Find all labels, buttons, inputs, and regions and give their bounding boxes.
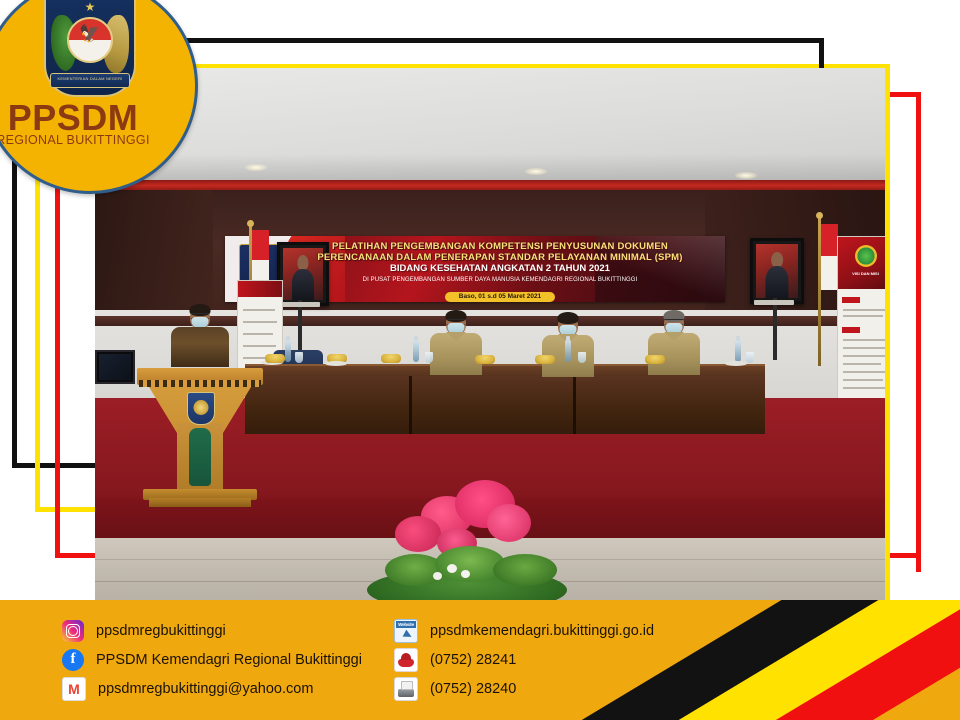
website-icon: Website: [394, 619, 418, 643]
brand-subtitle: REGIONAL BUKITTINGGI: [0, 133, 161, 147]
contact-row-email[interactable]: ppsdmregbukittinggi@yahoo.com: [62, 674, 402, 703]
frame-line-yellow-right: [885, 64, 890, 609]
foliage: [493, 554, 557, 586]
water-bottle: [565, 340, 571, 362]
vice-president-portrait: [750, 238, 804, 304]
banner-line-1: PELATIHAN PENGEMBANGAN KOMPETENSI PENYUS…: [285, 241, 715, 252]
wall-monitor: [95, 350, 135, 384]
instagram-icon: [62, 620, 84, 642]
contact-row-telephone[interactable]: (0752) 28241: [394, 645, 914, 674]
portrait-base-right: [754, 300, 794, 305]
contact-column-left: ppsdmregbukittinggi f PPSDM Kemendagri R…: [62, 616, 402, 703]
banner-line-4: DI PUSAT PENGEMBANGAN SUMBER DAYA MANUSI…: [285, 275, 715, 285]
crest-ribbon: KEMENTERIAN DALAM NEGERI: [50, 73, 130, 88]
telephone-icon: [394, 648, 418, 672]
drinking-glass: [578, 352, 586, 363]
speaker-at-podium: [167, 306, 233, 372]
snack-plate: [535, 355, 555, 364]
ceiling-light: [735, 172, 757, 179]
snack-plate: [645, 355, 665, 364]
contact-row-facebook[interactable]: f PPSDM Kemendagri Regional Bukittinggi: [62, 645, 402, 674]
contact-row-fax[interactable]: (0752) 28240: [394, 674, 914, 703]
rollup-title: VISI DAN MISI: [838, 271, 885, 276]
instagram-handle: ppsdmregbukittinggi: [96, 623, 226, 639]
plate: [725, 361, 747, 366]
flag-finial-left: [247, 220, 254, 227]
podium: [141, 368, 259, 513]
kemendagri-crest-icon: ★ 🦅 KEMENTERIAN DALAM NEGERI: [44, 0, 136, 97]
contact-column-right: Website ppsdmkemendagri.bukittinggi.go.i…: [394, 616, 914, 703]
telephone-number: (0752) 28241: [430, 652, 516, 668]
poster-canvas: PELATIHAN PENGEMBANGAN KOMPETENSI PENYUS…: [0, 0, 960, 720]
ceiling-light: [525, 168, 547, 175]
portrait-stand-right: [773, 298, 777, 360]
fax-number: (0752) 28240: [430, 681, 516, 697]
rollup-tag-misi: [842, 327, 860, 333]
table-seam: [409, 376, 412, 434]
indonesian-flag-right: [821, 224, 838, 290]
podium-emblem-icon: [187, 392, 215, 425]
gmail-icon: [62, 677, 86, 701]
water-bottle: [735, 340, 741, 362]
contact-row-instagram[interactable]: ppsdmregbukittinggi: [62, 616, 402, 645]
portrait-base-left: [280, 302, 320, 307]
ceiling-light: [245, 164, 267, 171]
garuda-icon: 🦅: [79, 25, 100, 42]
seated-official: [648, 312, 700, 374]
event-photo: PELATIHAN PENGEMBANGAN KOMPETENSI PENYUS…: [95, 68, 885, 600]
star-icon: ★: [85, 1, 96, 13]
flower-cluster: [487, 504, 531, 542]
flower-cluster: [395, 516, 441, 552]
drinking-glass: [425, 352, 433, 363]
brand-title: PPSDM: [0, 99, 161, 137]
plate: [325, 361, 347, 366]
drinking-glass: [295, 352, 303, 363]
flag-finial-right: [816, 212, 823, 219]
white-flower: [433, 572, 442, 580]
fax-icon: [394, 677, 418, 701]
white-flower: [461, 570, 470, 578]
banner-text-block: PELATIHAN PENGEMBANGAN KOMPETENSI PENYUS…: [285, 241, 715, 302]
frame-line-red-right: [916, 92, 921, 572]
head-table-front: [245, 376, 765, 434]
water-bottle: [413, 340, 419, 362]
seated-official: [430, 312, 482, 374]
drinking-glass: [746, 352, 754, 363]
facebook-icon: f: [62, 649, 84, 671]
rollup-tag-visi: [842, 297, 860, 303]
event-banner: PELATIHAN PENGEMBANGAN KOMPETENSI PENYUS…: [225, 236, 725, 302]
white-flower: [447, 564, 457, 573]
table-seam: [573, 376, 576, 434]
facebook-page: PPSDM Kemendagri Regional Bukittinggi: [96, 652, 362, 668]
website-icon-label: Website: [396, 621, 416, 628]
water-bottle: [285, 340, 291, 362]
banner-line-3: BIDANG KESEHATAN ANGKATAN 2 TAHUN 2021: [285, 263, 715, 275]
snack-plate: [265, 354, 285, 363]
rollup-banner-right: VISI DAN MISI: [837, 236, 885, 408]
contact-row-website[interactable]: Website ppsdmkemendagri.bukittinggi.go.i…: [394, 616, 914, 645]
crest-ribbon-text: KEMENTERIAN DALAM NEGERI: [51, 76, 129, 81]
banner-date: Baso, 01 s.d 05 Maret 2021: [445, 292, 555, 302]
footer-bar: ppsdmregbukittinggi f PPSDM Kemendagri R…: [0, 600, 960, 720]
website-url: ppsdmkemendagri.bukittinggi.go.id: [430, 623, 654, 639]
snack-plate: [475, 355, 495, 364]
snack-plate: [381, 354, 401, 363]
banner-line-2: PERENCANAAN DALAM PENERAPAN STANDAR PELA…: [285, 252, 715, 263]
email-address: ppsdmregbukittinggi@yahoo.com: [98, 681, 313, 697]
